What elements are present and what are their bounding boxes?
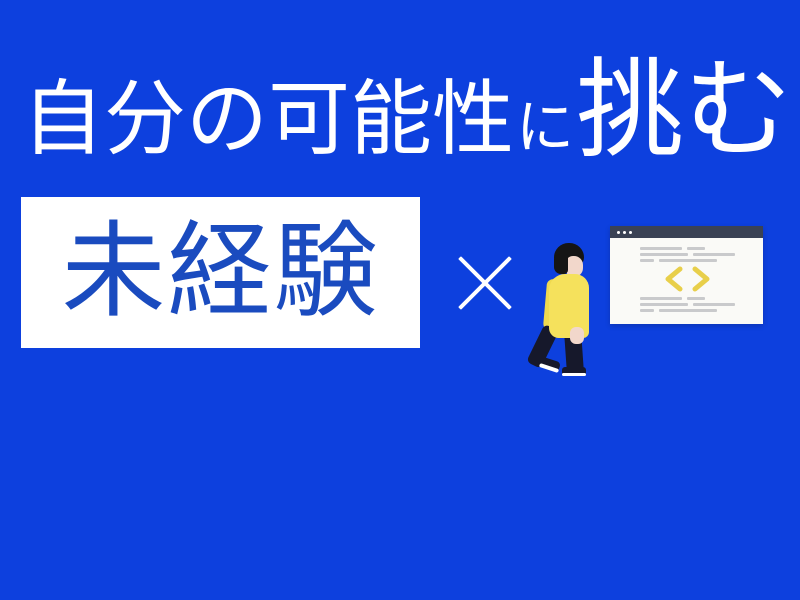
walking-person-illustration xyxy=(538,243,600,373)
code-line-segment xyxy=(659,309,717,312)
person-front-shoe-sole xyxy=(562,373,586,376)
code-line-segment xyxy=(687,247,705,250)
code-window-titlebar xyxy=(610,226,763,238)
code-line-segment xyxy=(693,253,735,256)
code-lines-bottom xyxy=(640,297,749,312)
code-line-segment xyxy=(640,259,654,262)
code-lines-top xyxy=(640,247,749,262)
plate-unexperienced: 未経験 xyxy=(21,197,420,348)
code-line-row xyxy=(640,253,749,256)
code-line-segment xyxy=(640,297,682,300)
recruitment-banner: 自分の可能性 に 挑む 未経験 × xyxy=(0,0,800,600)
window-dot-1 xyxy=(617,231,620,234)
code-line-row xyxy=(640,309,749,312)
person-hand xyxy=(570,327,584,344)
code-line-row xyxy=(640,247,749,250)
headline-part-2: に xyxy=(514,99,576,157)
multiply-cross-mark-icon: × xyxy=(449,247,521,319)
code-line-row xyxy=(640,303,749,306)
code-line-segment xyxy=(640,253,688,256)
code-browser-window-icon xyxy=(610,226,763,324)
code-line-segment xyxy=(687,297,705,300)
code-line-segment xyxy=(693,303,735,306)
headline-part-3: 挑む xyxy=(576,58,792,166)
person-jacket xyxy=(549,274,589,338)
headline-part-1: 自分の可能性 xyxy=(22,79,514,161)
person-hair-side xyxy=(554,254,568,274)
code-line-row xyxy=(640,297,749,300)
code-chevrons-icon xyxy=(626,264,749,294)
code-window-body xyxy=(610,238,763,324)
code-line-segment xyxy=(659,259,717,262)
window-dot-2 xyxy=(623,231,626,234)
code-line-segment xyxy=(640,309,654,312)
code-line-row xyxy=(640,259,749,262)
code-line-segment xyxy=(640,303,688,306)
window-dot-3 xyxy=(629,231,632,234)
code-line-segment xyxy=(640,247,682,250)
plate-top-label: 未経験 xyxy=(61,221,379,325)
headline: 自分の可能性 に 挑む xyxy=(22,58,782,173)
